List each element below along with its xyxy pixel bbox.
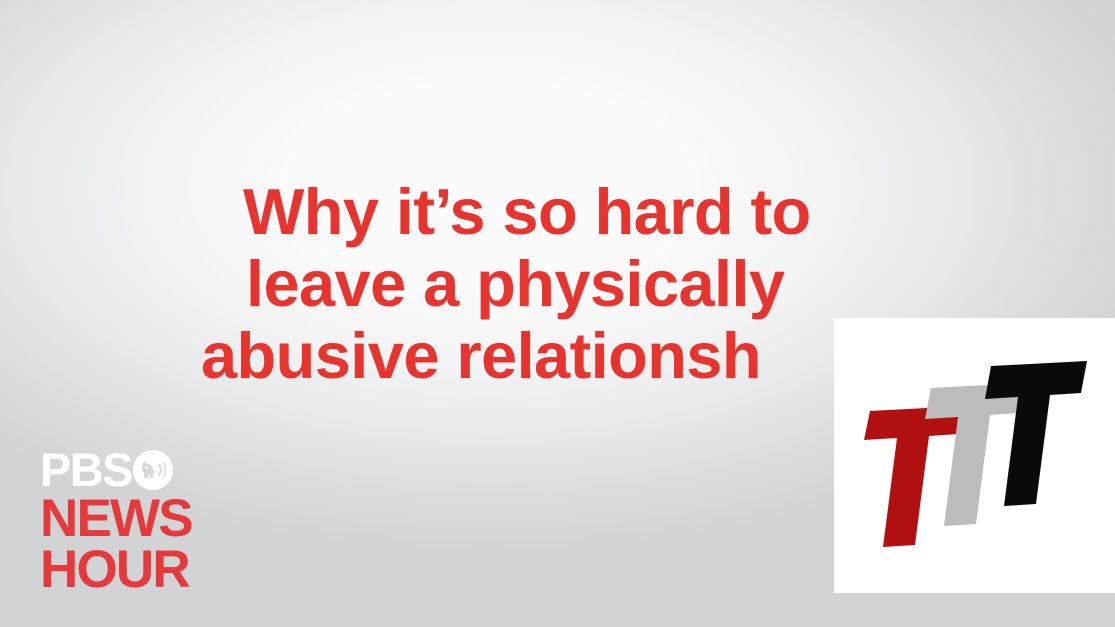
ttt-logo-art: [834, 318, 1115, 593]
pbs-newshour-logo: PBS NEWS HOUR: [40, 448, 240, 595]
headline-line-1: Why it’s so hard to: [196, 176, 916, 248]
pbs-wordmark: PBS: [40, 448, 132, 492]
headline-line-3: abusive relationsh: [196, 320, 916, 392]
video-thumbnail: Why it’s so hard to leave a physically a…: [0, 0, 1115, 627]
page-title: Why it’s so hard to leave a physically a…: [196, 176, 916, 392]
pbs-newshour-hour-word: HOUR: [40, 545, 240, 595]
pbs-head-icon: [133, 450, 173, 490]
ttt-letter-red: [864, 406, 964, 547]
pbs-brand-row: PBS: [40, 448, 240, 492]
headline-line-2: leave a physically: [196, 248, 916, 320]
ttt-logo-panel: [834, 318, 1115, 593]
pbs-newshour-news-word: NEWS: [40, 494, 240, 544]
ttt-letter-black: [985, 361, 1087, 506]
